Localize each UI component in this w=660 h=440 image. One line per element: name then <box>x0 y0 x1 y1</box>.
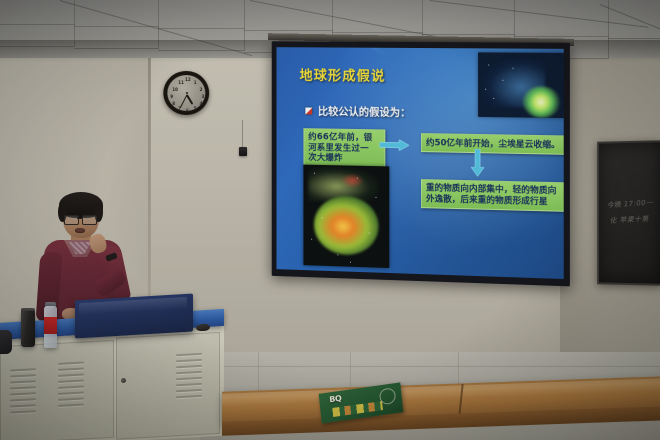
laptop <box>75 293 193 338</box>
square-bullet-icon <box>305 107 312 114</box>
slide-bullet-text: 比较公认的假设为： <box>318 104 411 120</box>
book-title: BQ <box>329 394 342 405</box>
clock-number: 8 <box>172 101 175 106</box>
blackboard: 今晚 17:00— 化 苹果十第 <box>597 140 660 286</box>
glasses-bridge <box>77 218 82 219</box>
clock-number: 2 <box>200 87 203 92</box>
chalk-line: 化 苹果十第 <box>609 214 649 226</box>
book-seal-icon <box>379 387 397 405</box>
clock-number: 11 <box>178 80 184 85</box>
sensor-cable <box>242 120 243 148</box>
slide-bullet-row: 比较公认的假设为： <box>305 104 410 120</box>
right-arrow-icon <box>379 139 409 151</box>
clock-number: 12 <box>185 77 191 82</box>
clock-number: 10 <box>172 87 178 92</box>
textbox-big-bang: 约66亿年前，银 河系里发生过一 次大爆炸 <box>303 128 385 169</box>
wall-sensor-icon <box>239 147 247 156</box>
lecture-hall-photo: 12 1 2 3 4 5 6 7 8 9 10 11 <box>0 0 660 440</box>
clock-number: 3 <box>201 94 204 99</box>
laptop-lid-reflection <box>79 297 187 315</box>
textbox-line: 次大爆炸 <box>308 153 380 165</box>
textbox-dust-cloud: 约50亿年前开始，尘埃星云收缩。 <box>421 133 564 155</box>
thermos-flask <box>21 311 35 347</box>
textbox-line: 约66亿年前，银 <box>308 132 380 144</box>
nebula-photo <box>303 165 389 268</box>
clock-number: 4 <box>200 101 203 106</box>
presenter-mouth <box>75 228 85 233</box>
galaxy-photo <box>478 52 564 118</box>
lectern-lock <box>121 378 126 383</box>
clock-number: 9 <box>170 94 173 99</box>
glasses-lens-left <box>64 215 79 225</box>
clock-face: 12 1 2 3 4 5 6 7 8 9 10 11 <box>167 75 205 111</box>
down-arrow-icon <box>471 149 484 176</box>
dark-equipment <box>0 330 12 354</box>
bottle-label <box>44 317 57 334</box>
clock-minute-hand <box>179 94 187 108</box>
clock-number: 6 <box>186 108 189 113</box>
clock-number: 1 <box>194 80 197 85</box>
slide-title: 地球形成假说 <box>300 64 386 85</box>
projection-screen: 地球形成假说 比较公认的假设为： 约66亿年前，银 河系里发生过一 次大爆炸 约… <box>272 41 570 286</box>
chalk-line: 今晚 17:00— <box>606 197 653 210</box>
projected-slide: 地球形成假说 比较公认的假设为： 约66亿年前，银 河系里发生过一 次大爆炸 约… <box>277 47 564 279</box>
textbox-planet-formation: 重的物质向内部集中，轻的物质向 外逸散，后来重的物质形成行星 <box>421 179 564 212</box>
textbox-line: 约50亿年前开始，尘埃星云收缩。 <box>426 138 564 151</box>
clock-number: 5 <box>194 106 197 111</box>
glasses-lens-right <box>82 215 97 225</box>
wall-clock: 12 1 2 3 4 5 6 7 8 9 10 11 <box>163 71 209 115</box>
book-cover-graphic <box>332 401 383 417</box>
